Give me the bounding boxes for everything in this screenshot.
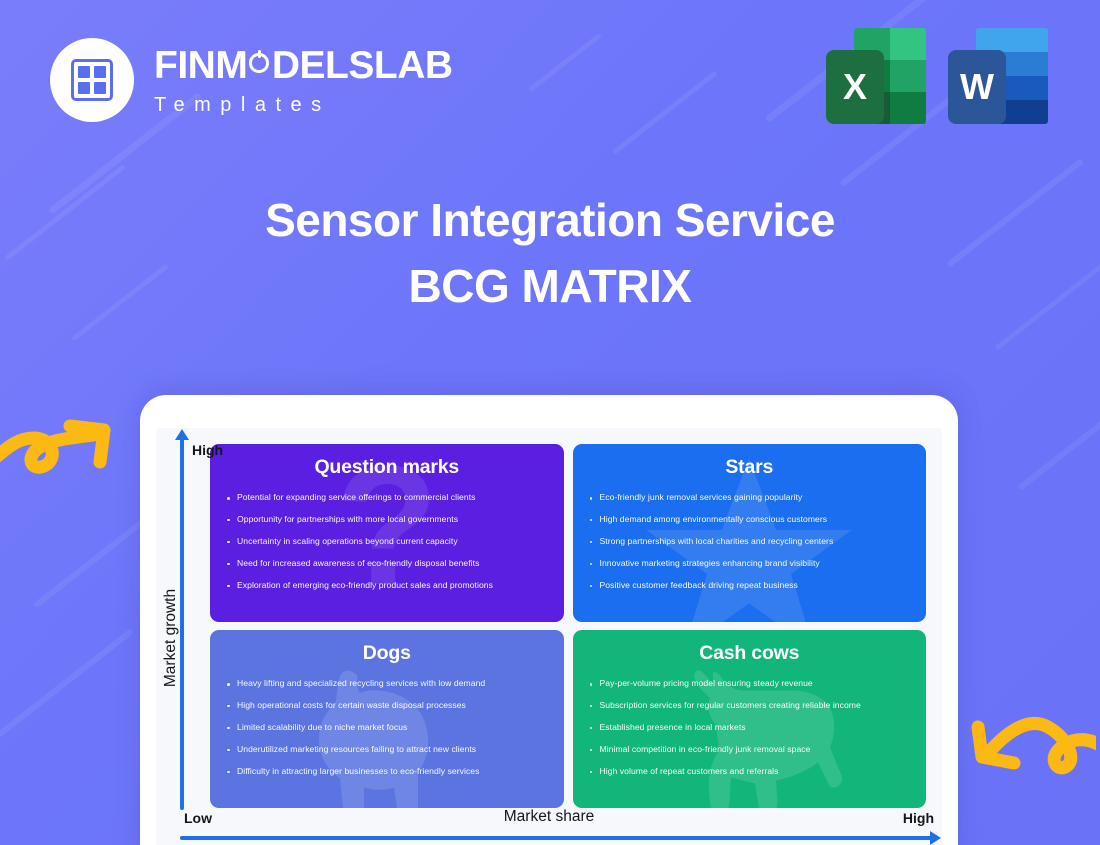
background-brush-stroke (1017, 375, 1100, 491)
list-item: Established presence in local markets (587, 723, 913, 733)
x-axis (180, 836, 932, 840)
list-item: Exploration of emerging eco-friendly pro… (224, 581, 550, 591)
yellow-arrow-up-right-icon (0, 404, 128, 494)
x-axis-title: Market share (504, 808, 594, 826)
list-item: Eco-friendly junk removal services gaini… (587, 493, 913, 503)
grid-logo-icon (50, 38, 134, 122)
yellow-arrow-down-left-icon (956, 713, 1096, 805)
list-item: Strong partnerships with local charities… (587, 537, 913, 547)
bcg-matrix-grid: ? Question marks Potential for expanding… (210, 444, 926, 808)
background-brush-stroke (528, 33, 602, 92)
background-brush-stroke (33, 518, 147, 609)
list-item: Opportunity for partnerships with more l… (224, 515, 550, 525)
list-item: Limited scalability due to niche market … (224, 723, 550, 733)
quadrant-title: Question marks (224, 456, 550, 479)
word-icon-letter: W (948, 50, 1006, 124)
excel-icon[interactable]: X (826, 28, 926, 124)
page-title: Sensor Integration Service BCG MATRIX (0, 192, 1100, 315)
list-item: Potential for expanding service offering… (224, 493, 550, 503)
x-axis-high-label: High (903, 810, 934, 826)
title-line-2: BCG MATRIX (0, 258, 1100, 316)
quadrant-bullet-list: Heavy lifting and specialized recycling … (224, 679, 550, 776)
word-icon[interactable]: W (948, 28, 1048, 124)
quadrant-bullet-list: Pay-per-volume pricing model ensuring st… (587, 679, 913, 776)
background-brush-stroke (612, 71, 718, 155)
list-item: Innovative marketing strategies enhancin… (587, 559, 913, 569)
list-item: High operational costs for certain waste… (224, 701, 550, 711)
brand-logo[interactable]: FINMODELSLAB Templates (50, 38, 453, 122)
list-item: High volume of repeat customers and refe… (587, 767, 913, 777)
title-line-1: Sensor Integration Service (0, 192, 1100, 250)
y-axis-high-label: High (192, 442, 223, 458)
list-item: Uncertainty in scaling operations beyond… (224, 537, 550, 547)
quadrant-bullet-list: Potential for expanding service offering… (224, 493, 550, 590)
quadrant-cash-cows[interactable]: Cash cows Pay-per-volume pricing model e… (573, 630, 927, 808)
matrix-card: High Low High Market share Market growth… (140, 395, 958, 845)
bcg-matrix-slide: FINMODELSLAB Templates X W Sensor Integr… (0, 0, 1100, 845)
excel-icon-letter: X (826, 50, 884, 124)
y-axis (180, 438, 184, 810)
quadrant-title: Dogs (224, 642, 550, 665)
brand-name: FINMODELSLAB (154, 46, 453, 85)
list-item: Subscription services for regular custom… (587, 701, 913, 711)
power-o-icon: O (247, 46, 272, 85)
quadrant-title: Stars (587, 456, 913, 479)
quadrant-question-marks[interactable]: ? Question marks Potential for expanding… (210, 444, 564, 622)
x-axis-low-label: Low (184, 810, 212, 826)
quadrant-bullet-list: Eco-friendly junk removal services gaini… (587, 493, 913, 590)
quadrant-stars[interactable]: Stars Eco-friendly junk removal services… (573, 444, 927, 622)
list-item: Need for increased awareness of eco-frie… (224, 559, 550, 569)
list-item: Difficulty in attracting larger business… (224, 767, 550, 777)
background-brush-stroke (0, 628, 134, 737)
list-item: Underutilized marketing resources failin… (224, 745, 550, 755)
matrix-panel: High Low High Market share Market growth… (156, 428, 942, 845)
format-icons: X W (826, 28, 1048, 124)
quadrant-title: Cash cows (587, 642, 913, 665)
list-item: Positive customer feedback driving repea… (587, 581, 913, 591)
quadrant-dogs[interactable]: Dogs Heavy lifting and specialized recyc… (210, 630, 564, 808)
list-item: Pay-per-volume pricing model ensuring st… (587, 679, 913, 689)
list-item: Minimal competition in eco-friendly junk… (587, 745, 913, 755)
y-axis-title: Market growth (162, 589, 180, 687)
list-item: Heavy lifting and specialized recycling … (224, 679, 550, 689)
brand-tagline: Templates (154, 95, 453, 115)
list-item: High demand among environmentally consci… (587, 515, 913, 525)
